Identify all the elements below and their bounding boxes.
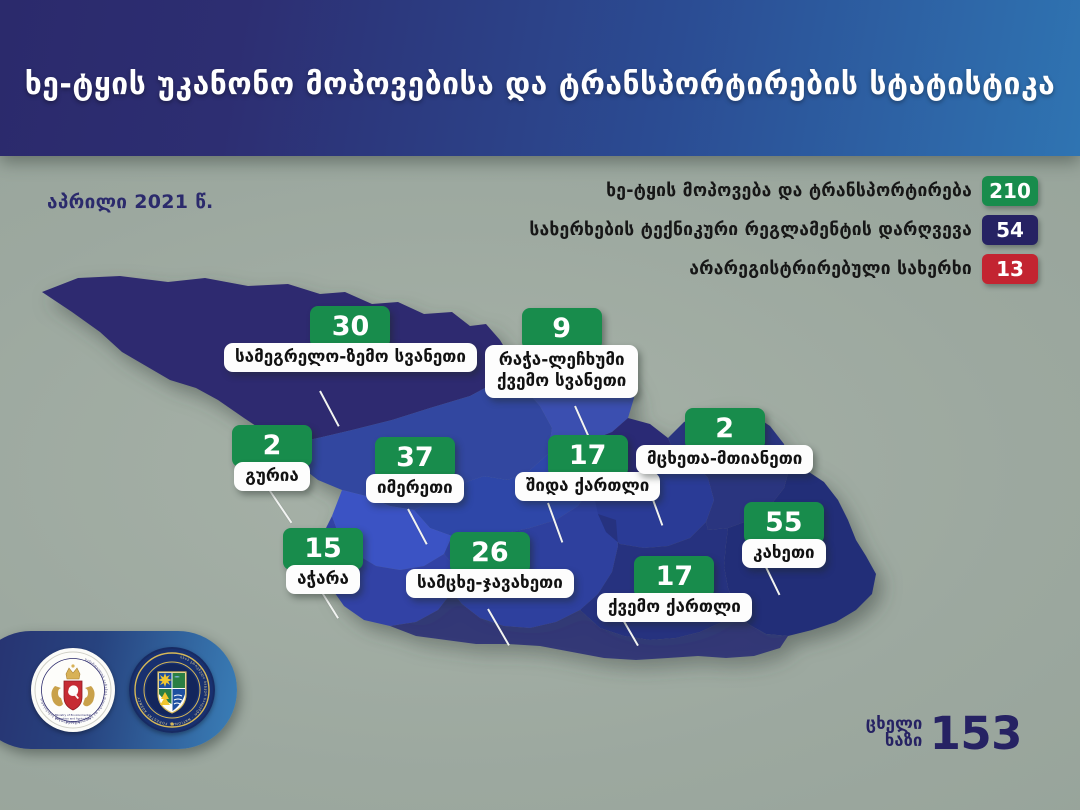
marker-label: შიდა ქართლი — [515, 472, 660, 501]
marker-label-line1: რაჭა-ლეჩხუმი — [497, 350, 626, 371]
marker-count: 15 — [283, 528, 363, 570]
marker-count: 55 — [744, 502, 824, 544]
legend-value-badge: 210 — [982, 176, 1038, 206]
map-marker-guria[interactable]: 2 გურია — [232, 425, 312, 491]
organisation-logos: საქართველოს გარემოს დაცვისა და სოფლის მე… — [0, 631, 237, 749]
date-label: აპრილი 2021 წ. — [47, 191, 214, 213]
marker-count: 26 — [450, 532, 530, 574]
marker-count: 17 — [634, 556, 714, 598]
map-marker-adjara[interactable]: 15 აჭარა — [283, 528, 363, 594]
page-title: ხე-ტყის უკანონო მოპოვებისა და ტრანსპორტი… — [25, 67, 1056, 102]
marker-count: 2 — [685, 408, 765, 450]
marker-label: რაჭა-ლეჩხუმი ქვემო სვანეთი — [485, 345, 638, 398]
map-marker-racha-lechkhumi-kvemo-svaneti[interactable]: 9 რაჭა-ლეჩხუმი ქვემო სვანეთი — [485, 308, 638, 398]
marker-label-line2: ქვემო სვანეთი — [497, 371, 626, 392]
ministry-coat-of-arms-icon: საქართველოს გარემოს დაცვისა და სოფლის მე… — [33, 650, 113, 730]
marker-label: სამცხე-ჯავახეთი — [406, 569, 574, 598]
map-marker-mtskheta-mtianeti[interactable]: 2 მცხეთა-მთიანეთი — [636, 408, 813, 474]
forestry-agency-seal-icon: სსიპ ეროვნული სატყეო სააგენტო · NATIONAL… — [130, 648, 214, 732]
legend-row-sawmill-regulation: სახერხების ტექნიკური რეგლამენტის დარღვევ… — [529, 215, 1038, 245]
marker-label: გურია — [234, 462, 310, 491]
marker-label: იმერეთი — [366, 474, 464, 503]
marker-count: 9 — [522, 308, 602, 350]
ministry-emblem-icon: საქართველოს გარემოს დაცვისა და სოფლის მე… — [31, 648, 115, 732]
legend-label: სახერხების ტექნიკური რეგლამენტის დარღვევ… — [529, 220, 972, 240]
map-marker-kvemo-kartli[interactable]: 17 ქვემო ქართლი — [597, 556, 752, 622]
marker-count: 30 — [310, 306, 390, 348]
map-marker-kakheti[interactable]: 55 კახეთი — [742, 502, 826, 568]
infographic-poster: ხე-ტყის უკანონო მოპოვებისა და ტრანსპორტი… — [0, 0, 1080, 810]
marker-label: კახეთი — [742, 539, 826, 568]
map-marker-samtskhe-javakheti[interactable]: 26 სამცხე-ჯავახეთი — [406, 532, 574, 598]
marker-count: 2 — [232, 425, 312, 467]
legend-label: ხე-ტყის მოპოვება და ტრანსპორტირება — [606, 181, 972, 201]
header-banner: ხე-ტყის უკანონო მოპოვებისა და ტრანსპორტი… — [0, 0, 1080, 156]
marker-count: 37 — [375, 437, 455, 479]
map-marker-imereti[interactable]: 37 იმერეთი — [366, 437, 464, 503]
hotline-label: ცხელი ხაზი — [866, 716, 923, 750]
marker-label: ქვემო ქართლი — [597, 593, 752, 622]
marker-label: აჭარა — [286, 565, 360, 594]
hotline-label-line2: ხაზი — [866, 733, 923, 750]
marker-label: მცხეთა-მთიანეთი — [636, 445, 813, 474]
map-marker-samegrelo-zemo-svaneti[interactable]: 30 სამეგრელო-ზემო სვანეთი — [224, 306, 477, 372]
marker-count: 17 — [548, 435, 628, 477]
marker-label: სამეგრელო-ზემო სვანეთი — [224, 343, 477, 372]
hotline-number: 153 — [930, 713, 1022, 754]
legend-value-badge: 54 — [982, 215, 1038, 245]
forestry-agency-emblem-icon: სსიპ ეროვნული სატყეო სააგენტო · NATIONAL… — [129, 647, 215, 733]
legend-row-timber: ხე-ტყის მოპოვება და ტრანსპორტირება 210 — [606, 176, 1038, 206]
hotline-block: ცხელი ხაზი 153 — [866, 713, 1022, 754]
svg-text:of Georgia: of Georgia — [66, 720, 81, 724]
